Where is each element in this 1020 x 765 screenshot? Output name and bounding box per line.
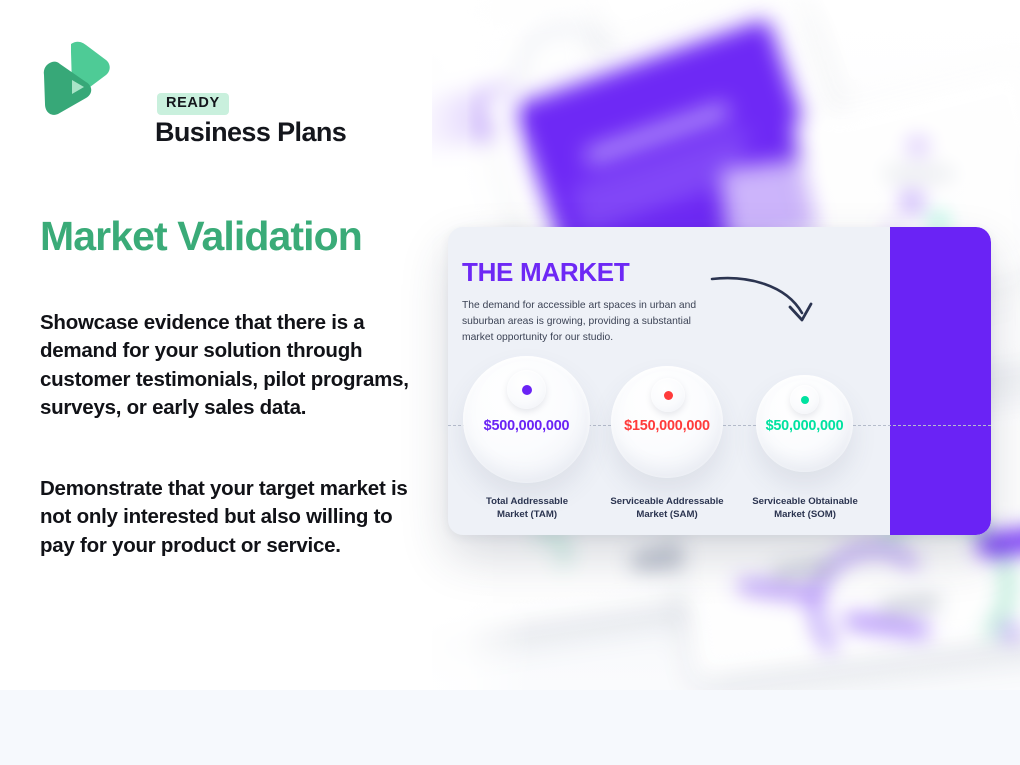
brand-name: Business Plans xyxy=(155,117,346,148)
body-paragraph-1: Showcase evidence that there is a demand… xyxy=(40,309,415,422)
background-ring-mint-small xyxy=(528,532,568,572)
page-title: Market Validation xyxy=(40,214,440,259)
gauge-dot-icon xyxy=(664,391,673,400)
gauge-dot-icon xyxy=(801,396,809,404)
background-dot xyxy=(902,192,922,212)
gauge-label-line1: Serviceable Obtainable xyxy=(710,496,900,509)
body-paragraph-2: Demonstrate that your target market is n… xyxy=(40,475,415,560)
slide-stage: READY Business Plans Market Validation S… xyxy=(0,0,1020,765)
market-slide-card: THE MARKET The demand for accessible art… xyxy=(448,227,991,535)
market-gauges: $500,000,000 Total Addressable Market (T… xyxy=(448,227,991,535)
gauge-dot-icon xyxy=(522,385,532,395)
brand-lockup: READY Business Plans xyxy=(41,40,381,122)
gauge-label-line2: Market (SOM) xyxy=(710,509,900,522)
gauge-value: $50,000,000 xyxy=(756,419,853,433)
background-dot xyxy=(1004,625,1018,639)
gauge-knob xyxy=(507,370,546,409)
gauge-value: $500,000,000 xyxy=(463,419,590,433)
gauge-knob xyxy=(790,385,819,414)
play-triangle-logo-icon xyxy=(41,40,111,118)
bottom-band xyxy=(0,690,1020,765)
gauge-value: $150,000,000 xyxy=(611,419,723,433)
ready-badge: READY xyxy=(157,93,229,115)
gauge-knob xyxy=(651,378,685,412)
